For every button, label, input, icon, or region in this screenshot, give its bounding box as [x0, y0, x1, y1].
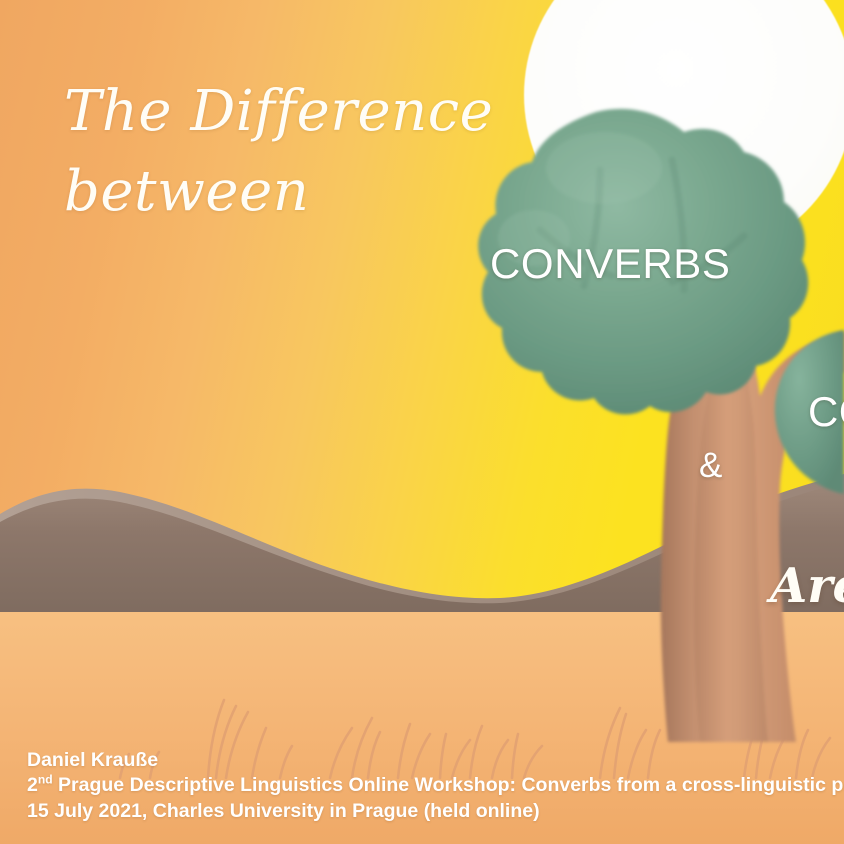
title-slide: The Difference between CONVERBS & COVERB…: [0, 0, 844, 844]
footer-event-prefix: 2: [27, 774, 38, 796]
footer-event-rest: Prague Descriptive Linguistics Online Wo…: [53, 774, 844, 796]
footer-event-ordinal: nd: [38, 773, 53, 787]
subtitle: Are they the same?: [770, 558, 844, 614]
page-title-line-2: between: [64, 152, 534, 232]
footer-author: Daniel Krauße: [27, 748, 844, 773]
label-converbs: CONVERBS: [490, 240, 731, 288]
label-ampersand: &: [699, 446, 722, 486]
page-title: The Difference between: [64, 72, 534, 231]
footer-credits: Daniel Krauße 2nd Prague Descriptive Lin…: [27, 748, 844, 824]
footer-venue: 15 July 2021, Charles University in Prag…: [27, 799, 844, 824]
label-coverbs: COVERBS: [808, 388, 844, 436]
page-title-line-1: The Difference: [64, 72, 534, 152]
footer-event: 2nd Prague Descriptive Linguistics Onlin…: [27, 773, 844, 798]
